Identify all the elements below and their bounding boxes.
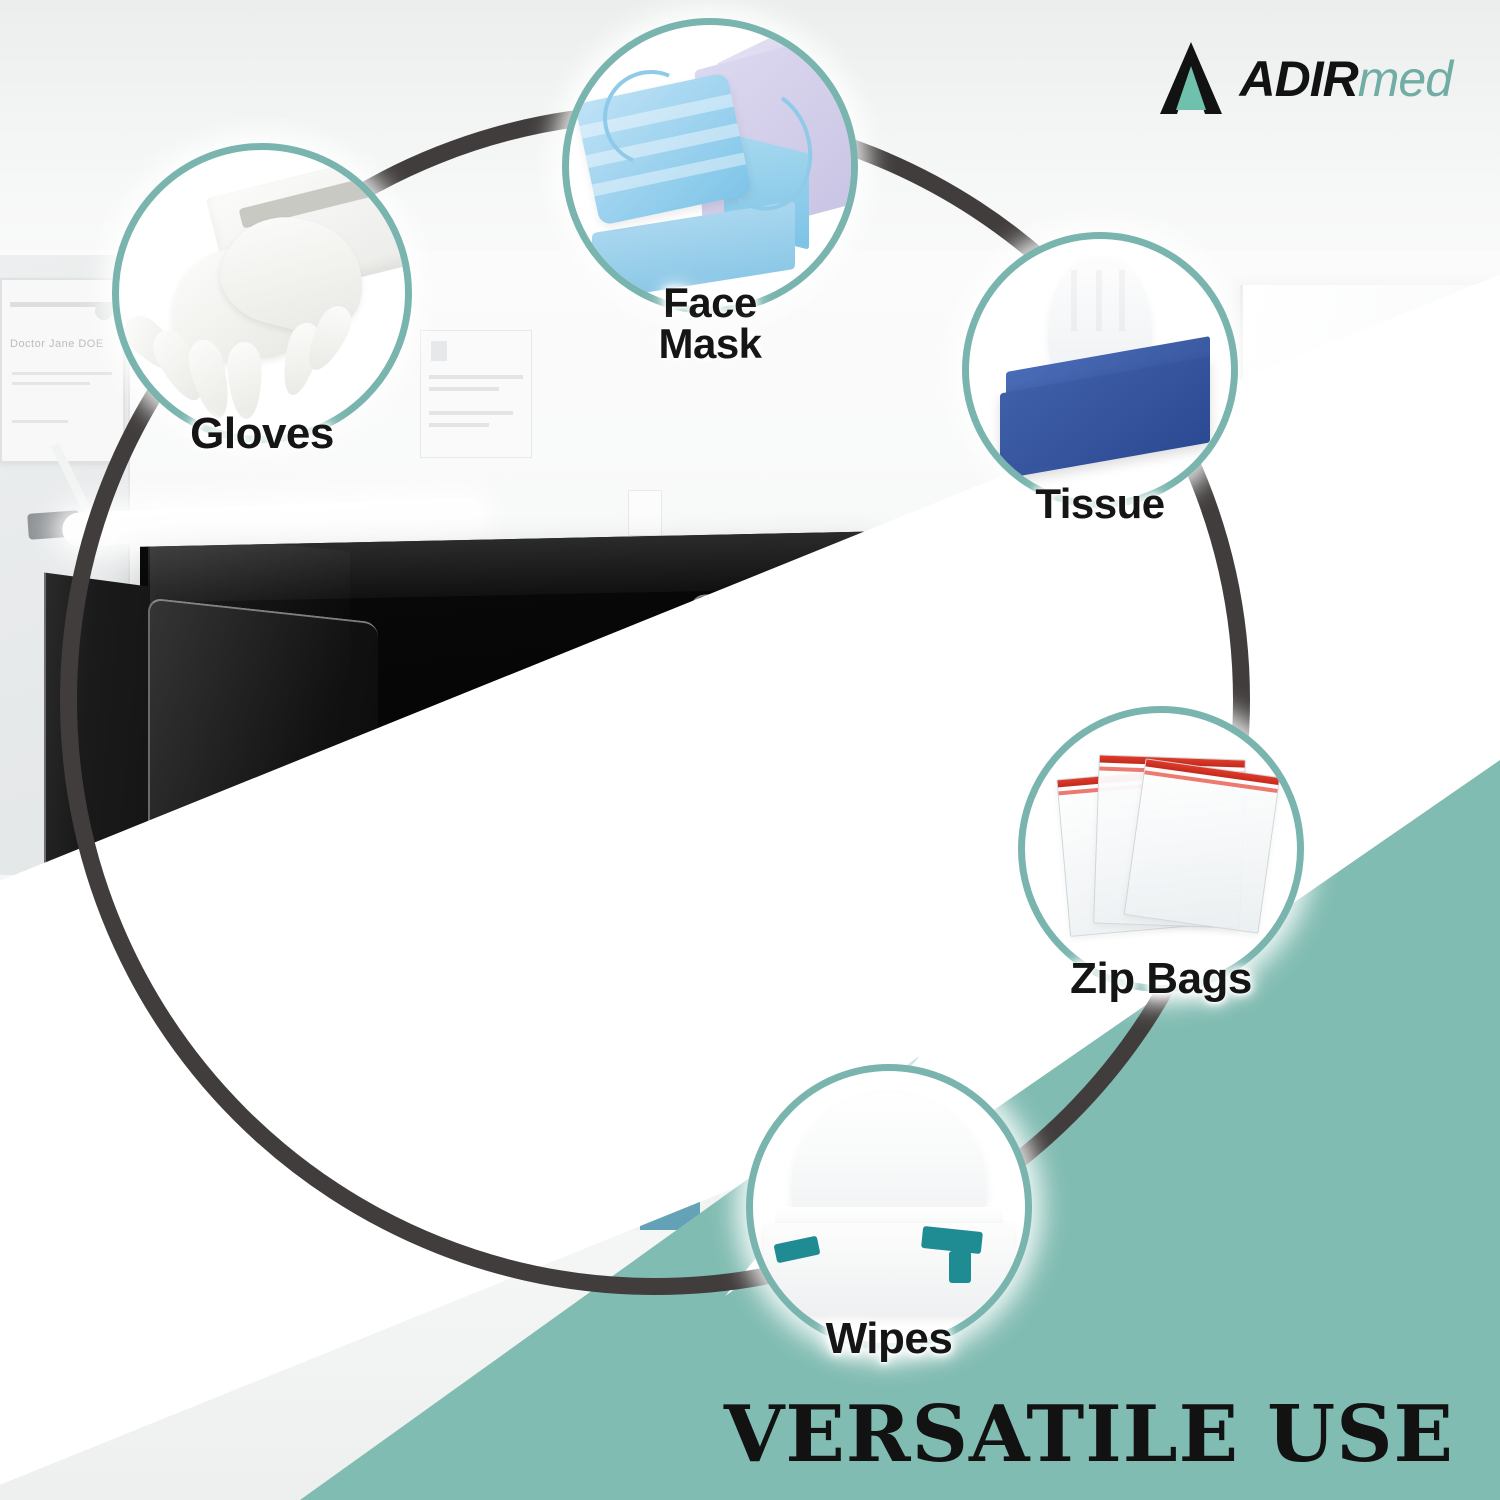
headline-versatile-use: VERSATILE USE xyxy=(724,1396,1454,1474)
callout-zip-bags[interactable]: Zip Bags xyxy=(1018,706,1304,992)
callout-label-face-mask: Face Mask xyxy=(562,283,858,364)
product-marketing-image: Doctor Jane DOE xyxy=(0,0,1500,1500)
adir-arrow-logo-icon xyxy=(1158,40,1224,118)
brand-name-primary: ADIR xyxy=(1240,51,1358,107)
callout-label-wipes: Wipes xyxy=(746,1318,1032,1360)
callout-tissue[interactable]: Tissue xyxy=(962,232,1238,508)
callout-wipes[interactable]: Wipes xyxy=(746,1064,1032,1350)
brand-name-secondary: med xyxy=(1358,51,1452,107)
face-mask-line-2: Mask xyxy=(562,324,858,364)
gloves-icon xyxy=(112,143,412,443)
face-mask-line-1: Face xyxy=(562,283,858,323)
face-mask-icon xyxy=(562,18,858,314)
callout-face-mask[interactable]: Face Mask xyxy=(562,18,858,314)
callout-label-gloves: Gloves xyxy=(112,413,412,455)
tissue-box-icon xyxy=(962,232,1238,508)
callout-label-tissue: Tissue xyxy=(962,484,1238,524)
zip-bags-icon xyxy=(1018,706,1304,992)
callout-label-zip-bags: Zip Bags xyxy=(1018,958,1304,1000)
brand-wordmark: ADIRmed xyxy=(1240,54,1452,104)
wipes-pack-icon xyxy=(746,1064,1032,1350)
brand-logo[interactable]: ADIRmed xyxy=(1158,40,1452,118)
callout-gloves[interactable]: Gloves xyxy=(112,143,412,443)
